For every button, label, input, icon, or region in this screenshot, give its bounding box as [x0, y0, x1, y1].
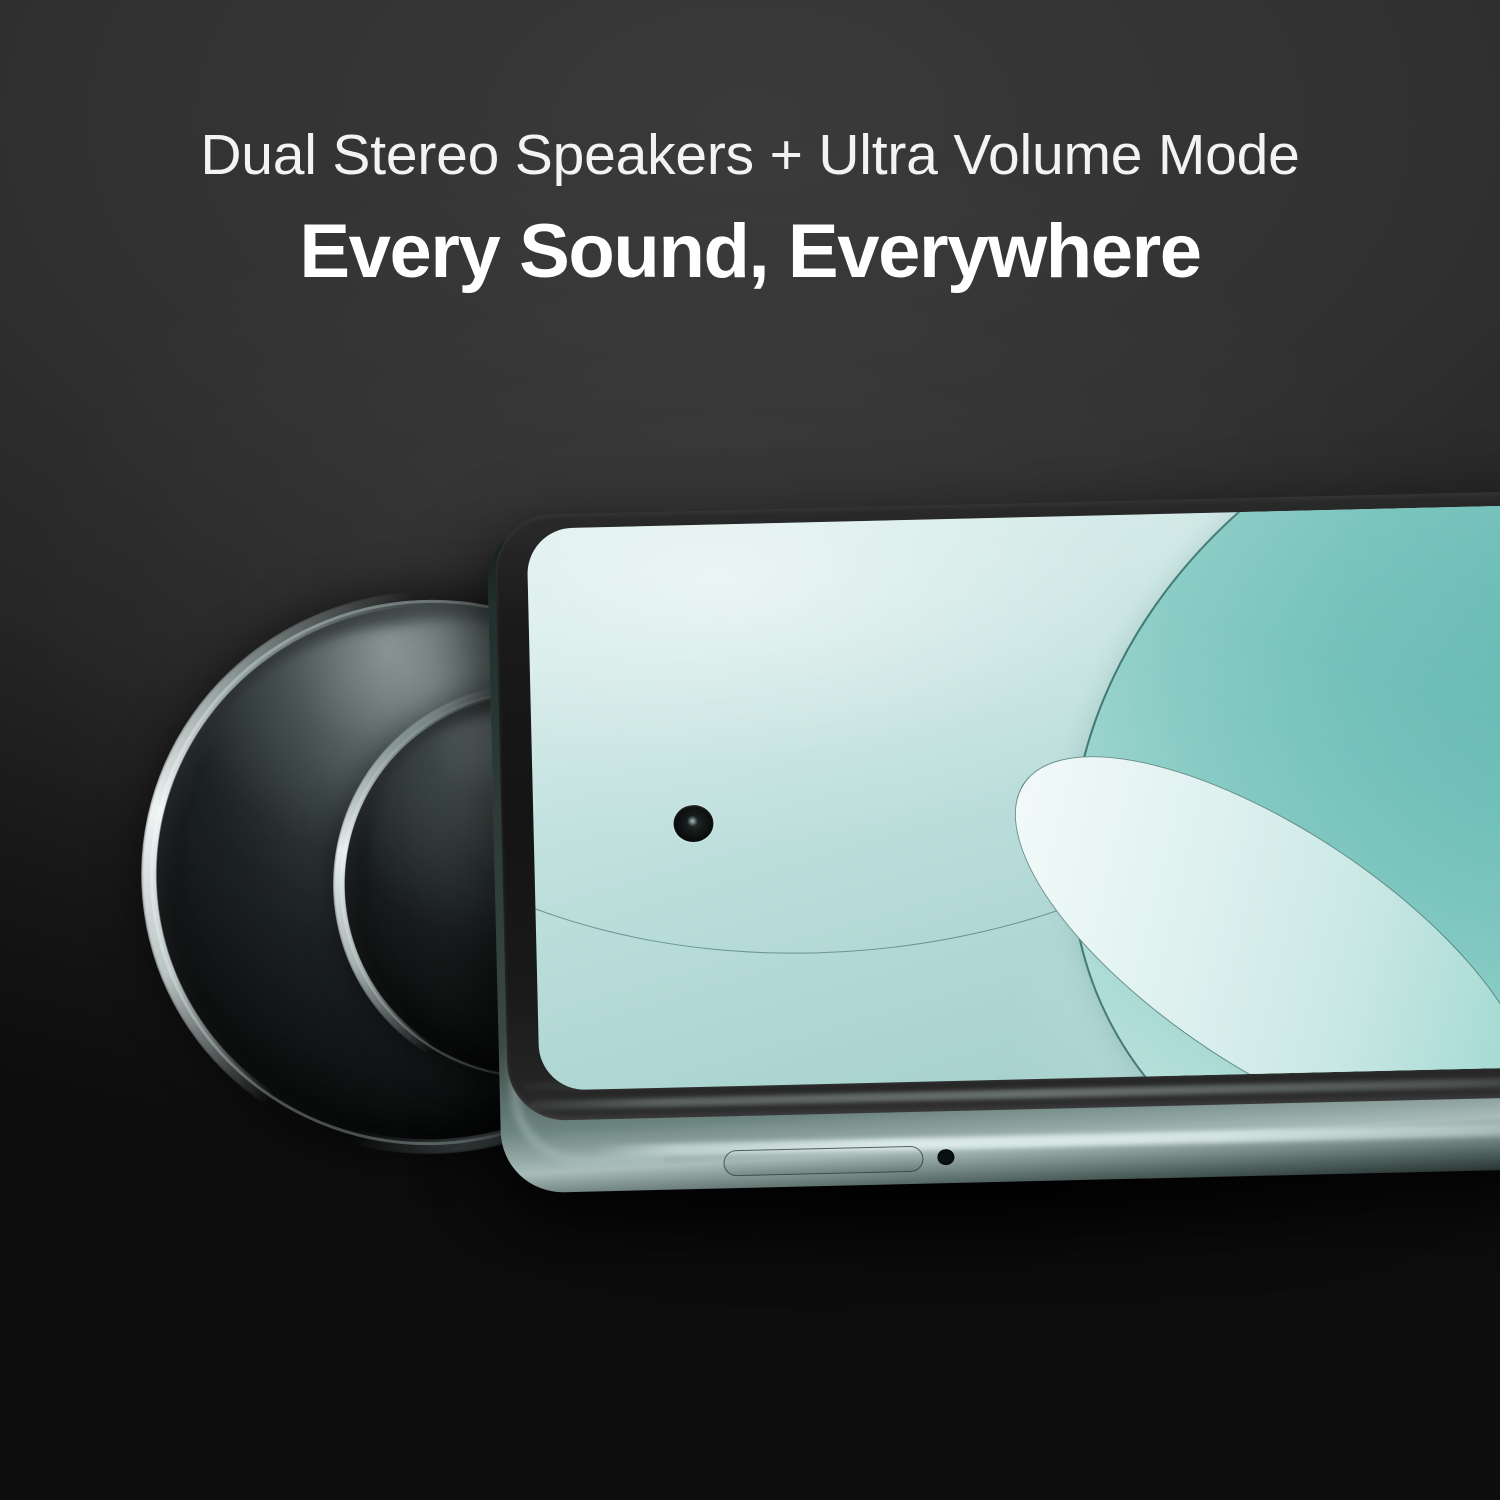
phone-screen [527, 504, 1500, 1091]
marketing-banner: Dual Stereo Speakers + Ultra Volume Mode… [0, 0, 1500, 1500]
camera-lens-glint [687, 816, 698, 826]
headline-text: Every Sound, Everywhere [0, 204, 1500, 300]
smartphone-device [480, 482, 1500, 1208]
headline-block: Dual Stereo Speakers + Ultra Volume Mode… [0, 118, 1500, 300]
subtitle-text: Dual Stereo Speakers + Ultra Volume Mode [0, 118, 1500, 192]
speaker-grille [723, 1146, 924, 1177]
